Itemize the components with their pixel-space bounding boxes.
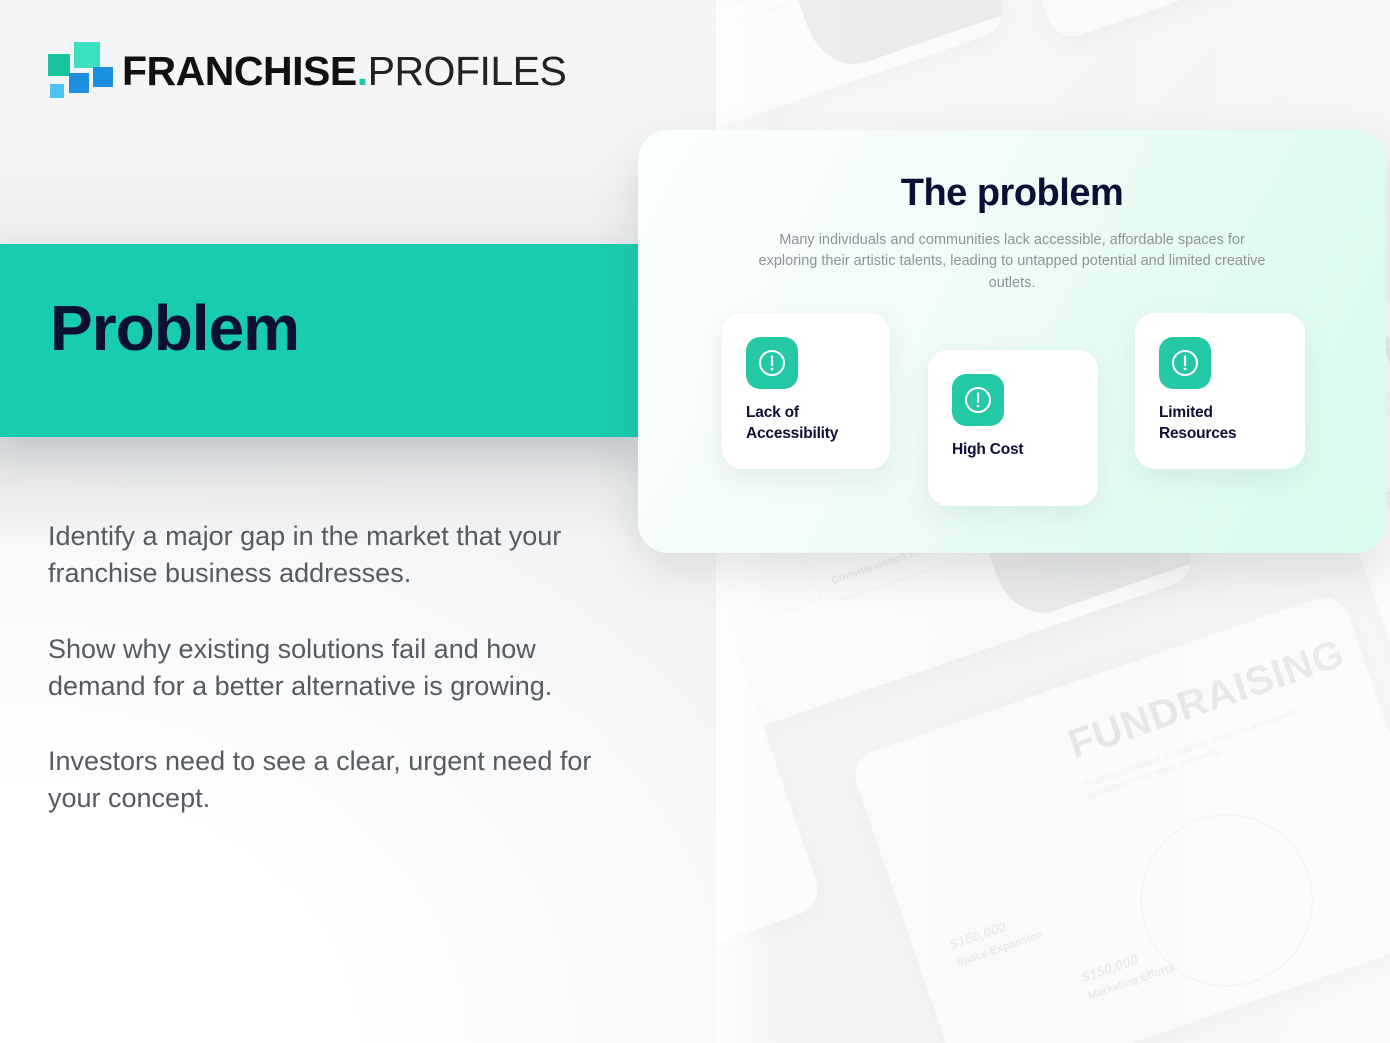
body-paragraph-1: Identify a major gap in the market that …: [48, 518, 620, 593]
alert-circle-icon: [746, 337, 798, 389]
preview-card-title: The problem: [638, 174, 1386, 212]
left-content-panel: FRANCHISE.PROFILES Problem Identify a ma…: [0, 0, 716, 1043]
brand-wordmark: FRANCHISE.PROFILES: [122, 51, 566, 92]
alert-circle-icon: [1159, 337, 1211, 389]
logo-square-teal-light: [74, 42, 100, 68]
brand-name-dot: .: [357, 48, 368, 94]
brand-name-bold: FRANCHISE: [122, 48, 357, 94]
problem-preview-card[interactable]: The problem Many individuals and communi…: [638, 130, 1386, 553]
problem-item-label-3: Limited Resources: [1159, 403, 1293, 445]
problem-item-card-3[interactable]: Limited Resources: [1135, 313, 1305, 469]
section-title-band: Problem: [0, 244, 638, 437]
preview-card-subtitle: Many individuals and communities lack ac…: [748, 230, 1276, 294]
body-copy: Identify a major gap in the market that …: [48, 518, 620, 818]
alert-circle-icon: [952, 374, 1004, 426]
problem-item-card-2[interactable]: High Cost: [928, 350, 1098, 506]
body-paragraph-2: Show why existing solutions fail and how…: [48, 631, 620, 706]
left-shadow-above-band: [0, 150, 716, 245]
logo-squares-icon: [48, 42, 106, 100]
brand-name-light: PROFILES: [368, 48, 567, 94]
logo-square-blue-small: [50, 84, 64, 98]
problem-item-label-1: Lack of Accessibility: [746, 403, 880, 445]
slide-root: SOLUTION Providing accessible creative s…: [0, 0, 1390, 1043]
logo-square-blue-mid: [69, 73, 89, 93]
logo-square-teal-dark: [48, 54, 70, 76]
page-title: Problem: [50, 296, 299, 360]
brand-logo[interactable]: FRANCHISE.PROFILES: [48, 42, 566, 100]
ghost-slide-problem: Lack of Accessibility High Cost Limited …: [949, 0, 1390, 43]
problem-item-card-1[interactable]: Lack of Accessibility: [722, 313, 890, 469]
logo-square-blue-right: [93, 67, 113, 87]
problem-item-label-2: High Cost: [952, 440, 1086, 461]
body-paragraph-3: Investors need to see a clear, urgent ne…: [48, 743, 620, 818]
